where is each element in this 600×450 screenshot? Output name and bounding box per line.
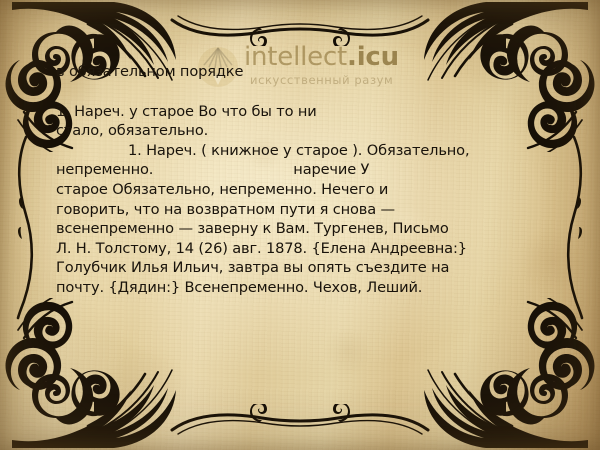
parchment-page: intellect.icu искусственный разум в обяз… — [0, 0, 600, 450]
paper-edge-shadow — [0, 0, 600, 450]
